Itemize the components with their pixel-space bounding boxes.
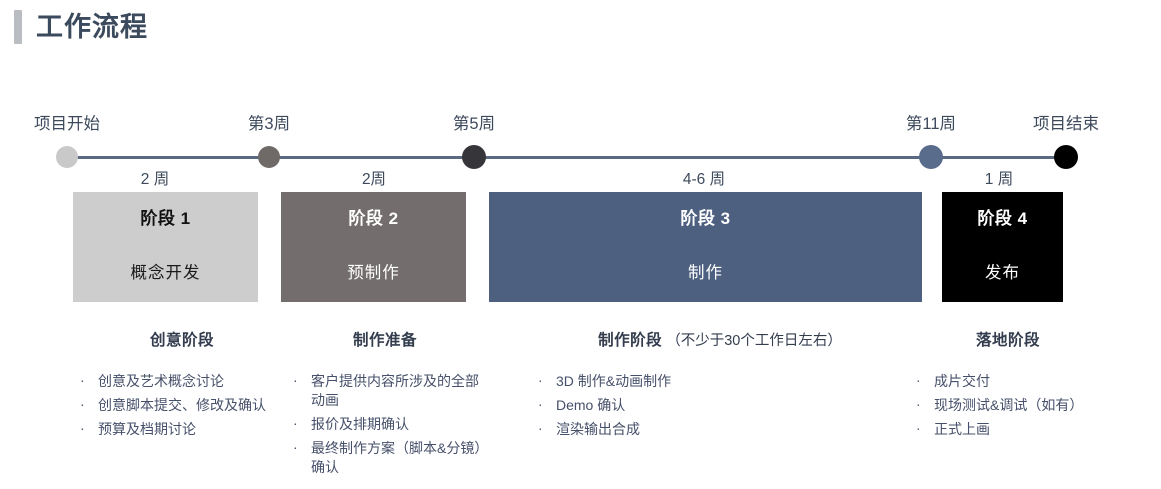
list-item: ·现场测试&调试（如有） (908, 396, 1108, 415)
phase-box-2[interactable]: 阶段 2预制作 (281, 192, 466, 302)
bullet-dot-icon: · (538, 419, 543, 438)
list-item: ·渲染输出合成 (530, 420, 910, 439)
bullet-dot-icon: · (80, 371, 85, 390)
column-heading-text-3: 制作阶段 (598, 332, 662, 349)
list-item: ·Demo 确认 (530, 396, 910, 415)
list-item-text: 预算及档期讨论 (98, 421, 196, 437)
milestone-label-3: 第5周 (453, 110, 495, 134)
bullet-list-3: ·3D 制作&动画制作·Demo 确认·渲染输出合成 (530, 372, 910, 439)
list-item-text: 报价及排期确认 (311, 416, 409, 432)
list-item-text: 创意及艺术概念讨论 (98, 373, 224, 389)
duration-label-3: 4-6 周 (683, 167, 725, 189)
duration-label-4: 1 周 (985, 167, 1013, 189)
phase-name-4: 发布 (985, 259, 1020, 283)
list-item: ·3D 制作&动画制作 (530, 372, 910, 391)
detail-column-4: 落地阶段·成片交付·现场测试&调试（如有）·正式上画 (908, 328, 1108, 444)
milestone-dot-1 (56, 146, 78, 168)
phase-name-1: 概念开发 (131, 259, 201, 283)
page-title: 工作流程 (14, 10, 148, 44)
list-item: ·预算及档期讨论 (72, 420, 292, 439)
bullet-dot-icon: · (538, 395, 543, 414)
phase-number-1: 阶段 1 (140, 204, 190, 229)
milestone-label-4: 第11周 (906, 110, 956, 134)
column-heading-2: 制作准备 (285, 328, 485, 350)
milestone-dot-4 (919, 145, 943, 169)
list-item: ·最终制作方案（脚本&分镜）确认 (285, 439, 485, 477)
list-item: ·成片交付 (908, 372, 1108, 391)
bullet-dot-icon: · (80, 419, 85, 438)
detail-column-3: 制作阶段 （不少于30个工作日左右）·3D 制作&动画制作·Demo 确认·渲染… (530, 328, 910, 444)
milestone-label-2: 第3周 (248, 110, 290, 134)
bullet-dot-icon: · (80, 395, 85, 414)
list-item-text: 渲染输出合成 (556, 421, 640, 437)
column-heading-text-4: 落地阶段 (976, 332, 1040, 349)
timeline-axis (67, 156, 1066, 159)
list-item: ·报价及排期确认 (285, 415, 485, 434)
bullet-list-1: ·创意及艺术概念讨论·创意脚本提交、修改及确认·预算及档期讨论 (72, 372, 292, 439)
milestone-label-5: 项目结束 (1033, 110, 1099, 134)
list-item-text: Demo 确认 (556, 397, 625, 413)
bullet-dot-icon: · (293, 438, 298, 457)
column-heading-3: 制作阶段 （不少于30个工作日左右） (530, 328, 910, 350)
bullet-dot-icon: · (538, 371, 543, 390)
list-item: ·创意及艺术概念讨论 (72, 372, 292, 391)
list-item-text: 现场测试&调试（如有） (934, 397, 1083, 413)
phase-number-3: 阶段 3 (680, 204, 730, 229)
bullet-dot-icon: · (916, 395, 921, 414)
bullet-list-4: ·成片交付·现场测试&调试（如有）·正式上画 (908, 372, 1108, 439)
milestone-dot-2 (258, 146, 280, 168)
title-accent-bar (14, 10, 22, 44)
phase-box-1[interactable]: 阶段 1概念开发 (73, 192, 258, 302)
column-heading-note-3: （不少于30个工作日左右） (662, 333, 842, 349)
phase-box-4[interactable]: 阶段 4发布 (942, 192, 1063, 302)
duration-label-1: 2 周 (141, 167, 169, 189)
list-item: ·客户提供内容所涉及的全部动画 (285, 372, 485, 410)
bullet-dot-icon: · (916, 419, 921, 438)
milestone-dot-5 (1054, 145, 1078, 169)
milestone-label-1: 项目开始 (34, 110, 100, 134)
detail-column-2: 制作准备·客户提供内容所涉及的全部动画·报价及排期确认·最终制作方案（脚本&分镜… (285, 328, 485, 482)
bullet-list-2: ·客户提供内容所涉及的全部动画·报价及排期确认·最终制作方案（脚本&分镜）确认 (285, 372, 485, 477)
column-heading-text-2: 制作准备 (353, 332, 417, 349)
workflow-slide: 工作流程 项目开始第3周第5周第11周项目结束 2 周2周4-6 周1 周 阶段… (0, 0, 1161, 489)
phase-name-3: 制作 (688, 259, 723, 283)
duration-label-2: 2周 (362, 167, 386, 189)
milestone-dot-3 (462, 145, 486, 169)
list-item-text: 3D 制作&动画制作 (556, 373, 671, 389)
list-item: ·正式上画 (908, 420, 1108, 439)
list-item-text: 正式上画 (934, 421, 990, 437)
page-title-text: 工作流程 (36, 10, 148, 44)
list-item-text: 最终制作方案（脚本&分镜）确认 (311, 440, 481, 475)
list-item-text: 创意脚本提交、修改及确认 (98, 397, 266, 413)
phase-number-2: 阶段 2 (348, 204, 398, 229)
column-heading-text-1: 创意阶段 (150, 332, 214, 349)
detail-column-1: 创意阶段·创意及艺术概念讨论·创意脚本提交、修改及确认·预算及档期讨论 (72, 328, 292, 444)
phase-name-2: 预制作 (347, 259, 400, 283)
column-heading-4: 落地阶段 (908, 328, 1108, 350)
column-heading-1: 创意阶段 (72, 328, 292, 350)
list-item: ·创意脚本提交、修改及确认 (72, 396, 292, 415)
list-item-text: 成片交付 (934, 373, 990, 389)
bullet-dot-icon: · (293, 414, 298, 433)
phase-box-3[interactable]: 阶段 3制作 (489, 192, 922, 302)
bullet-dot-icon: · (293, 371, 298, 390)
bullet-dot-icon: · (916, 371, 921, 390)
list-item-text: 客户提供内容所涉及的全部动画 (311, 373, 479, 408)
phase-number-4: 阶段 4 (977, 204, 1027, 229)
